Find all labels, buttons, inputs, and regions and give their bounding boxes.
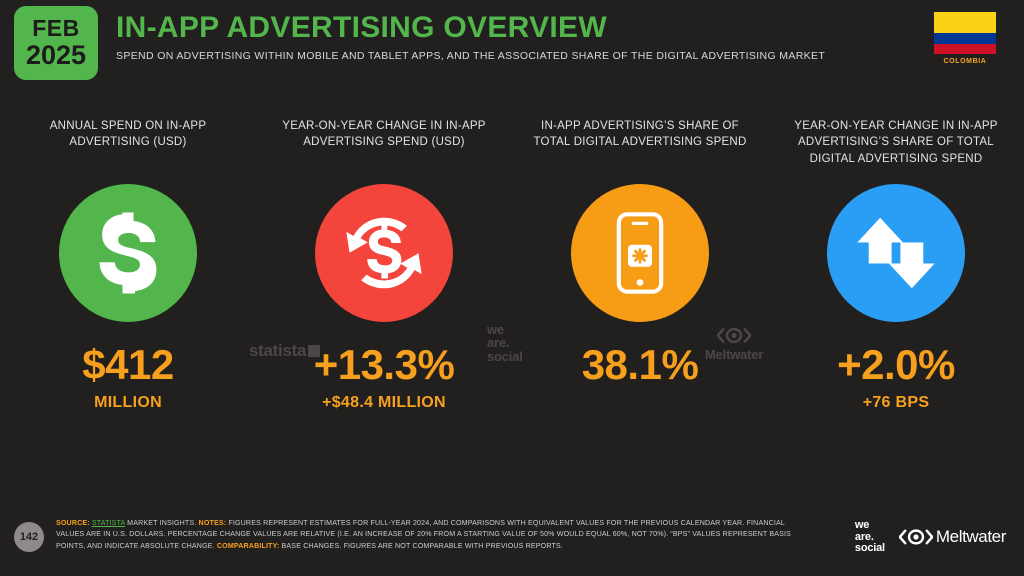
we-are-social-watermark-line-3: social [487,350,523,363]
date-badge: FEB 2025 [14,6,98,80]
stat-value: +2.0% [837,344,955,386]
stat-title: ANNUAL SPEND ON IN-APP ADVERTISING (USD) [21,118,236,176]
circular-arrows-dollar-icon [315,184,453,322]
meltwater-logo: Meltwater [899,527,1006,547]
stat-column-share-of-digital: IN-APP ADVERTISING’S SHARE OF TOTAL DIGI… [512,118,768,411]
stat-subvalue: +76 BPS [863,395,930,411]
page-subtitle: SPEND ON ADVERTISING WITHIN MOBILE AND T… [116,50,896,62]
comparability-text: BASE CHANGES. FIGURES ARE NOT COMPARABLE… [282,542,563,550]
source-label: SOURCE: [56,519,90,527]
stat-subvalue: MILLION [94,395,162,411]
dollar-sign-icon [59,184,197,322]
stat-title: IN-APP ADVERTISING’S SHARE OF TOTAL DIGI… [533,118,748,176]
we-are-social-watermark: we are. social [487,323,523,363]
title-block: IN-APP ADVERTISING OVERVIEW SPEND ON ADV… [116,12,896,62]
page-number-badge: 142 [14,522,44,552]
statista-watermark-label: statista [249,341,306,360]
statista-watermark: statista [249,341,320,361]
meltwater-watermark: Meltwater [705,327,763,362]
we-are-social-logo: we are. social [855,520,885,555]
stat-title: YEAR-ON-YEAR CHANGE IN IN-APP ADVERTISIN… [277,118,492,176]
page-title: IN-APP ADVERTISING OVERVIEW [116,12,896,44]
footer-logos: we are. social Meltwater [855,520,1006,555]
date-badge-year: 2025 [26,42,86,69]
source-notes-text: SOURCE: STATISTA MARKET INSIGHTS. NOTES:… [56,518,796,552]
we-are-social-watermark-line-2: are. [487,336,523,349]
stat-title: YEAR-ON-YEAR CHANGE IN IN-APP ADVERTISIN… [789,118,1004,176]
we-are-social-logo-line-1: we [855,520,885,532]
flag-band-blue [934,33,996,44]
we-are-social-logo-line-3: social [855,543,885,555]
meltwater-logo-label: Meltwater [936,527,1006,547]
stat-value: +13.3% [314,344,455,386]
source-rest: MARKET INSIGHTS. [127,519,196,527]
stat-value: $412 [82,344,173,386]
statista-watermark-mark [308,345,320,357]
meltwater-logo-eye-icon [899,528,933,546]
smartphone-ad-icon [571,184,709,322]
meltwater-eye-icon [717,327,751,344]
flag-band-red [934,44,996,55]
stat-subvalue: +$48.4 MILLION [322,395,446,411]
source-link-statista[interactable]: STATISTA [92,519,125,527]
flag-band-yellow [934,12,996,33]
country-flag-block: COLOMBIA [934,12,996,65]
we-are-social-watermark-line-1: we [487,323,523,336]
stat-columns: ANNUAL SPEND ON IN-APP ADVERTISING (USD)… [0,118,1024,411]
notes-label: NOTES: [199,519,227,527]
stat-column-yoy-change-share: YEAR-ON-YEAR CHANGE IN IN-APP ADVERTISIN… [768,118,1024,411]
meltwater-watermark-label: Meltwater [705,347,763,362]
stat-column-annual-spend: ANNUAL SPEND ON IN-APP ADVERTISING (USD)… [0,118,256,411]
stat-column-yoy-change-spend: YEAR-ON-YEAR CHANGE IN IN-APP ADVERTISIN… [256,118,512,411]
up-down-arrows-icon [827,184,965,322]
stat-value: 38.1% [582,344,699,386]
date-badge-month: FEB [32,17,80,40]
page-footer: 142 SOURCE: STATISTA MARKET INSIGHTS. NO… [0,504,1024,576]
country-name: COLOMBIA [934,58,996,65]
page-header: FEB 2025 IN-APP ADVERTISING OVERVIEW SPE… [0,0,1024,86]
colombia-flag-icon [934,12,996,54]
comparability-label: COMPARABILITY: [217,542,280,550]
